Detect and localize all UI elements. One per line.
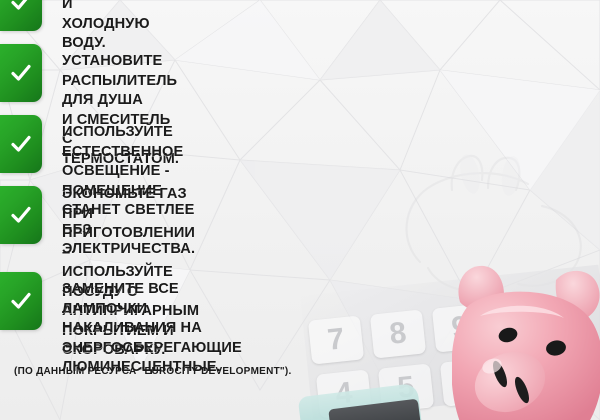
checklist: И ХОЛОДНУЮ ВОДУ. УСТАНОВИТЕ РАСПЫЛИТЕЛЬ …: [0, 0, 600, 360]
check-icon: [0, 44, 42, 102]
check-icon: [0, 186, 42, 244]
checklist-item-text: ЗАМЕНИТЕ ВСЕ ЛАМПОЧКИ НАКАЛИВАНИЯ НА ЭНЕ…: [62, 280, 242, 378]
check-icon: [0, 115, 42, 173]
infographic-poster: 7 8 9 4 5 6: [0, 0, 600, 420]
checklist-item-text: И ХОЛОДНУЮ ВОДУ.: [62, 0, 150, 54]
source-note: (ПО ДАННЫМ РЕСУРСА "EUROCITY DEVELOPMENT…: [14, 366, 292, 377]
check-icon: [0, 0, 42, 31]
check-icon: [0, 272, 42, 330]
